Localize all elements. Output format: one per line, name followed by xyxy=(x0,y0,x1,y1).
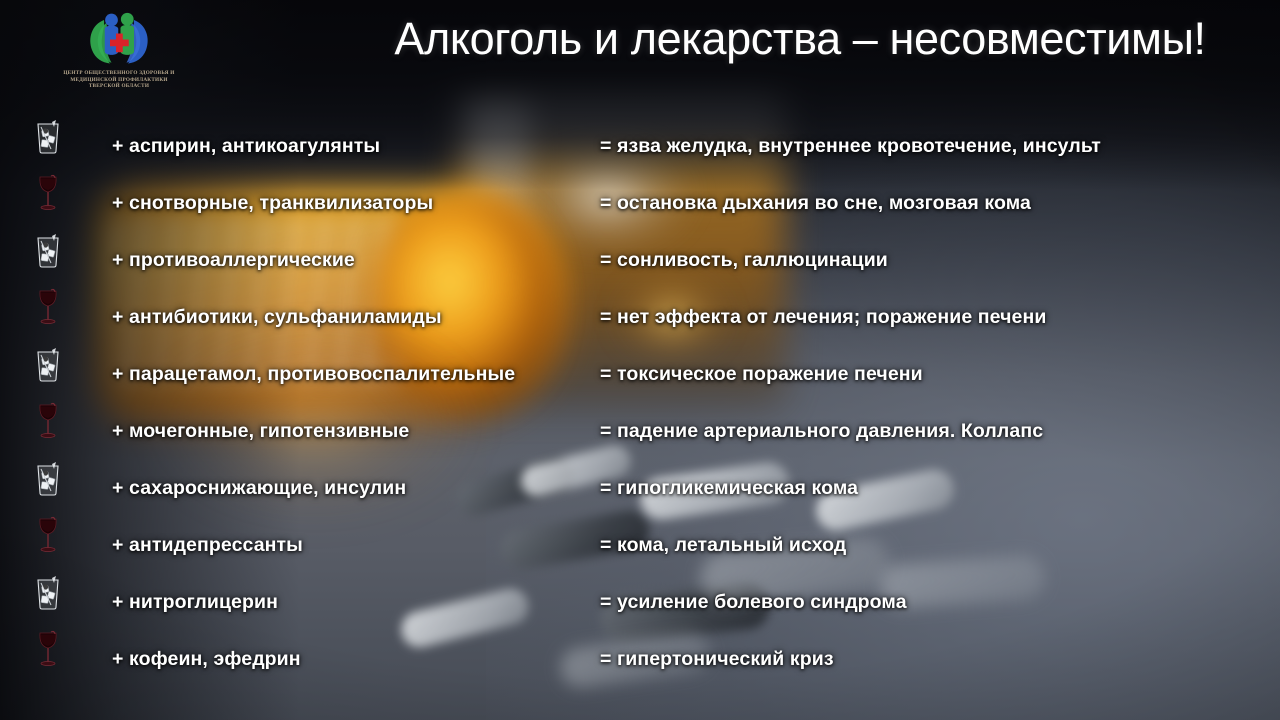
drug-label: + антидепрессанты xyxy=(112,517,303,574)
list-item: + сахароснижающие, инсулин = гипогликеми… xyxy=(0,460,1280,517)
list-item: + антидепрессанты = кома, летальный исхо… xyxy=(0,517,1280,574)
drug-label: + нитроглицерин xyxy=(112,574,278,631)
drug-label: + антибиотики, сульфаниламиды xyxy=(112,289,442,346)
effect-label: = сонливость, галлюцинации xyxy=(600,232,888,289)
slide-root: Центр общественного здоровья и медицинск… xyxy=(0,0,1280,720)
list-item: + кофеин, эфедрин = гипертонический криз xyxy=(0,631,1280,688)
organization-logo: Центр общественного здоровья и медицинск… xyxy=(44,8,194,100)
list-item: + парацетамол, противовоспалительные = т… xyxy=(0,346,1280,403)
health-center-emblem-icon xyxy=(81,8,157,68)
effect-label: = нет эффекта от лечения; поражение пече… xyxy=(600,289,1046,346)
drug-label: + противоаллергические xyxy=(112,232,355,289)
cocktail-glass-icon xyxy=(24,448,72,510)
interaction-list: + аспирин, антикоагулянты = язва желудка… xyxy=(0,118,1280,688)
drug-label: + мочегонные, гипотензивные xyxy=(112,403,409,460)
wine-glass-icon xyxy=(24,163,72,225)
effect-label: = язва желудка, внутреннее кровотечение,… xyxy=(600,118,1101,175)
effect-label: = кома, летальный исход xyxy=(600,517,846,574)
page-title: Алкоголь и лекарства – несовместимы! xyxy=(330,8,1270,70)
list-item: + антибиотики, сульфаниламиды = нет эффе… xyxy=(0,289,1280,346)
effect-label: = усиление болевого синдрома xyxy=(600,574,907,631)
list-item: + мочегонные, гипотензивные = падение ар… xyxy=(0,403,1280,460)
list-item: + противоаллергические = сонливость, гал… xyxy=(0,232,1280,289)
wine-glass-icon xyxy=(24,505,72,567)
cocktail-glass-icon xyxy=(24,106,72,168)
cocktail-glass-icon xyxy=(24,220,72,282)
drug-label: + кофеин, эфедрин xyxy=(112,631,301,688)
wine-glass-icon xyxy=(24,277,72,339)
slide-header: Центр общественного здоровья и медицинск… xyxy=(0,0,1280,104)
cocktail-glass-icon xyxy=(24,334,72,396)
effect-label: = гипертонический криз xyxy=(600,631,834,688)
list-item: + нитроглицерин = усиление болевого синд… xyxy=(0,574,1280,631)
wine-glass-icon xyxy=(24,391,72,453)
drug-label: + сахароснижающие, инсулин xyxy=(112,460,406,517)
logo-caption: Центр общественного здоровья и медицинск… xyxy=(44,70,194,90)
effect-label: = гипогликемическая кома xyxy=(600,460,858,517)
cocktail-glass-icon xyxy=(24,562,72,624)
effect-label: = остановка дыхания во сне, мозговая ком… xyxy=(600,175,1031,232)
list-item: + аспирин, антикоагулянты = язва желудка… xyxy=(0,118,1280,175)
drug-label: + парацетамол, противовоспалительные xyxy=(112,346,515,403)
list-item: + снотворные, транквилизаторы = остановк… xyxy=(0,175,1280,232)
drug-label: + аспирин, антикоагулянты xyxy=(112,118,380,175)
effect-label: = падение артериального давления. Коллап… xyxy=(600,403,1043,460)
drug-label: + снотворные, транквилизаторы xyxy=(112,175,433,232)
effect-label: = токсическое поражение печени xyxy=(600,346,923,403)
wine-glass-icon xyxy=(24,619,72,681)
